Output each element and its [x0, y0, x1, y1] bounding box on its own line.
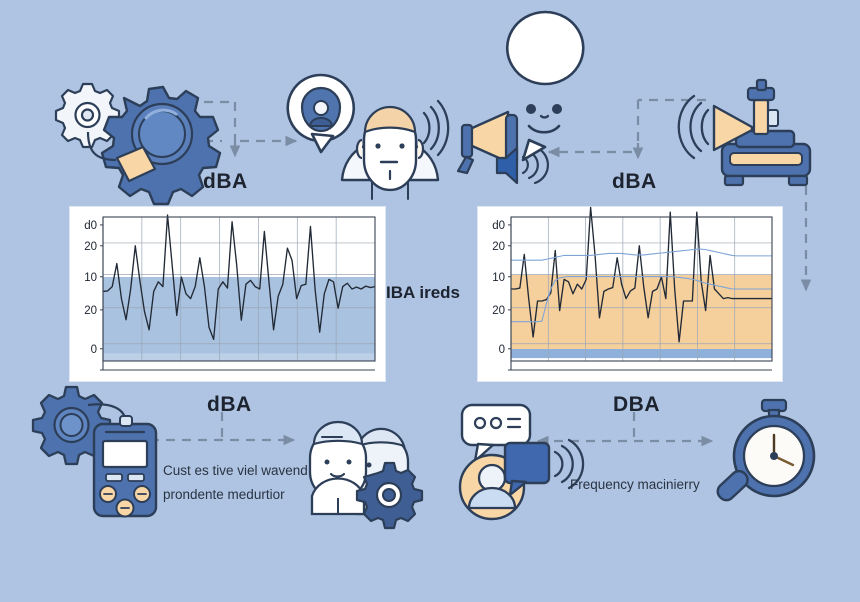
- svg-text:10: 10: [492, 272, 505, 284]
- bottom-left-dba-label: dBA: [207, 393, 252, 417]
- top-left-dba-label: dBA: [203, 170, 248, 194]
- bottom-right-dba-label: DBA: [613, 393, 660, 417]
- infographic-canvas: dBA dBA dBA DBA IBA ireds Cust es tive v…: [0, 0, 860, 602]
- chart-card-right: d02010200: [478, 207, 782, 381]
- stopwatch-magnifier-icon: [714, 400, 814, 503]
- smiley-bubble-icon: [507, 12, 583, 160]
- speech-bubble-avatar-icon: [288, 75, 354, 152]
- bottom-right-body: Frequency macinierry: [570, 476, 700, 493]
- bottom-left-body-line1: Cust es tive viel wavend: [163, 462, 308, 479]
- sound-wave-icon: [424, 101, 448, 155]
- svg-text:20: 20: [84, 241, 97, 253]
- svg-text:d0: d0: [84, 220, 97, 232]
- bottom-left-body-line2: prondente medurtior: [163, 486, 285, 503]
- top-right-dba-label: dBA: [612, 170, 657, 194]
- sound-wave-icon: [679, 96, 708, 158]
- svg-text:20: 20: [84, 305, 97, 317]
- worker-head-icon: [342, 107, 438, 199]
- svg-text:d0: d0: [492, 220, 505, 232]
- centre-mid-label: IBA ireds: [386, 283, 460, 303]
- svg-text:0: 0: [91, 344, 97, 356]
- svg-text:10: 10: [84, 272, 97, 284]
- svg-text:0: 0: [499, 344, 505, 356]
- svg-text:20: 20: [492, 241, 505, 253]
- chart-card-left: d02010200: [70, 207, 385, 381]
- arrow-top-right-to-center: [638, 100, 706, 143]
- chart-left: d02010200: [70, 207, 385, 381]
- svg-text:20: 20: [492, 305, 505, 317]
- chart-right: d02010200: [478, 207, 782, 381]
